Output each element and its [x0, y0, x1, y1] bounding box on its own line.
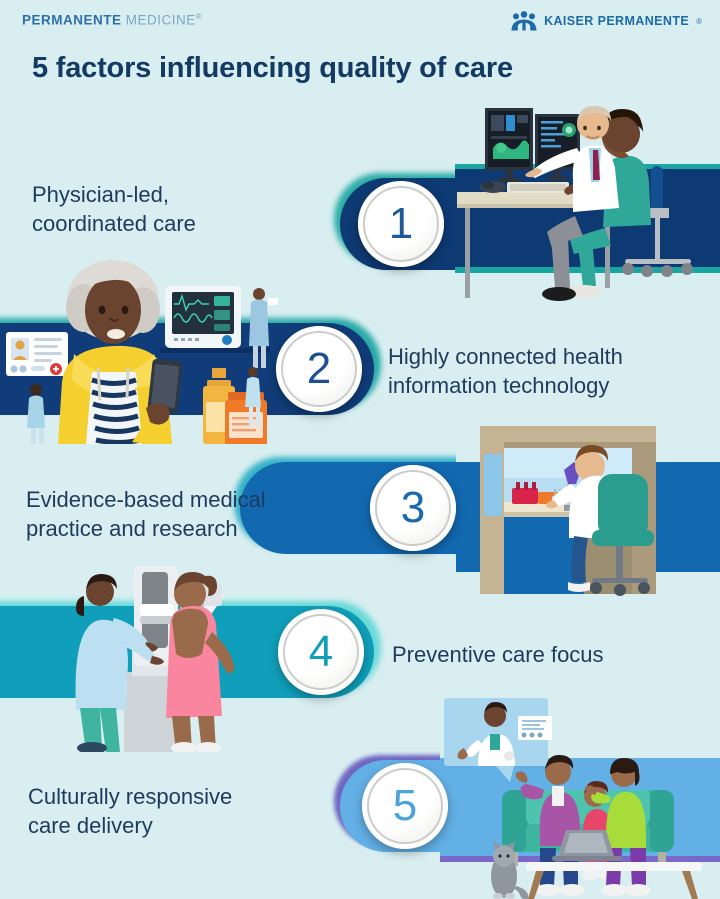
factor-caption-3-line-2: practice and research: [26, 514, 266, 543]
factor-caption-1-line-1: Physician-led,: [32, 180, 196, 209]
permanente-medicine-logo: PERMANENTE MEDICINE®: [22, 12, 202, 28]
factor-caption-3: Evidence-based medical practice and rese…: [26, 485, 266, 543]
illustration-telehealth-family: [440, 690, 720, 899]
factor-caption-5-line-1: Culturally responsive: [28, 782, 232, 811]
factor-number-2: 2: [276, 326, 362, 412]
permanente-wordmark-bold: PERMANENTE: [22, 13, 122, 28]
background-child-figure: [27, 384, 45, 444]
logo-bar: PERMANENTE MEDICINE® KAISER PERMANENTE: [0, 0, 720, 46]
factor-caption-2-line-1: Highly connected health: [388, 342, 623, 371]
permanente-registered-mark: ®: [196, 12, 202, 21]
factor-number-5: 5: [362, 763, 448, 849]
health-record-card-icon: [6, 332, 68, 376]
kaiser-registered-mark: ®: [696, 17, 702, 26]
background-staff-figure: [249, 288, 278, 368]
factor-caption-5-line-2: care delivery: [28, 811, 232, 840]
factor-caption-1: Physician-led, coordinated care: [32, 180, 196, 238]
factor-caption-2-line-2: information technology: [388, 371, 623, 400]
factor-number-3: 3: [370, 465, 456, 551]
kaiser-permanente-wordmark: KAISER PERMANENTE: [544, 14, 689, 28]
factor-caption-1-line-2: coordinated care: [32, 209, 196, 238]
kaiser-permanente-logo: KAISER PERMANENTE®: [511, 11, 702, 31]
illustration-mammogram-screening: [62, 552, 292, 752]
page-title: 5 factors influencing quality of care: [32, 52, 513, 85]
factor-caption-4-line-1: Preventive care focus: [392, 640, 604, 669]
illustration-lab-researcher: [456, 410, 720, 600]
kaiser-permanente-people-icon: [511, 11, 537, 31]
patient-figure: [166, 572, 234, 752]
factor-caption-4: Preventive care focus: [392, 640, 604, 669]
factor-number-1: 1: [358, 181, 444, 267]
factor-caption-5: Culturally responsive care delivery: [28, 782, 232, 840]
permanente-wordmark-light: MEDICINE: [126, 13, 196, 28]
factor-caption-2: Highly connected health information tech…: [388, 342, 623, 400]
infographic-poster: PERMANENTE MEDICINE® KAISER PERMANENTE: [0, 0, 720, 899]
factor-number-4: 4: [278, 609, 364, 695]
factor-caption-3-line-1: Evidence-based medical: [26, 485, 266, 514]
illustration-physicians-at-monitors: [455, 96, 720, 311]
illustration-patient-with-smartphone: [0, 252, 300, 444]
